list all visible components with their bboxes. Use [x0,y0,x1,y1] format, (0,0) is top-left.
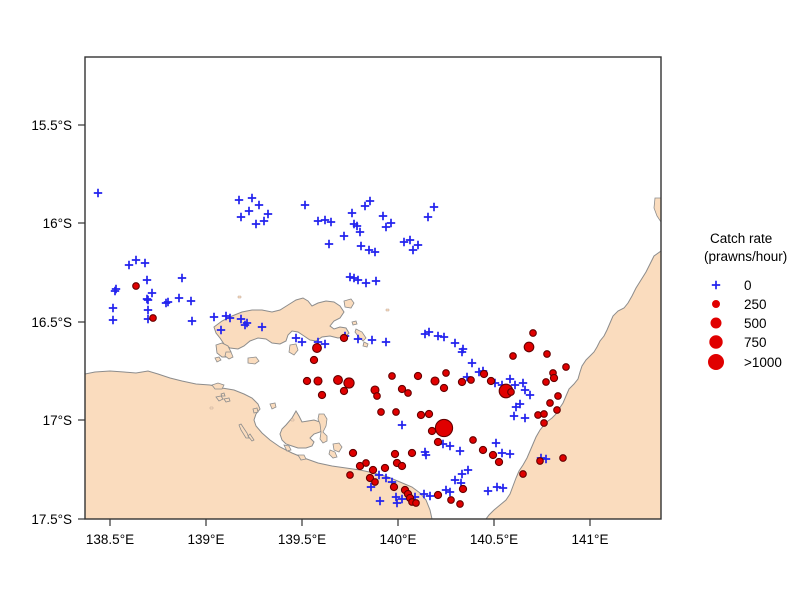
catch-rate-marker [480,370,487,377]
catch-rate-marker [413,500,420,507]
legend-symbol [708,354,723,369]
speck-d [210,407,213,409]
catch-rate-marker [479,446,486,453]
catch-rate-marker [520,471,527,478]
catch-rate-marker [434,438,441,445]
catch-rate-marker [318,391,325,398]
catch-rate-marker [133,283,140,290]
legend-entry-label: 500 [744,316,767,331]
speck-b [386,309,389,311]
legend-title-line1: Catch rate [710,231,772,246]
catch-rate-marker [405,390,412,397]
legend-title-line2: (prawns/hour) [704,249,787,264]
speck-c [291,419,294,421]
islet-f [221,393,225,396]
catch-rate-marker [340,387,347,394]
catch-rate-marker [544,351,551,358]
catch-rate-marker [369,466,376,473]
catch-rate-marker [563,364,570,371]
catch-rate-marker [393,409,400,416]
x-axis-tick-label: 140°E [380,532,417,547]
catch-rate-marker [303,377,310,384]
catch-rate-marker [537,458,544,465]
catch-rate-marker [428,427,435,434]
legend-entry-label: 250 [744,297,767,312]
legend-symbol [710,336,723,349]
y-axis-tick-label: 17.5°S [31,512,72,527]
y-axis-tick-label: 16.5°S [31,315,72,330]
legend-entry-label: >1000 [744,355,782,370]
catch-rate-marker [554,407,561,414]
catch-rate-marker [374,393,381,400]
legend-symbol [711,318,721,328]
catch-rate-marker [340,334,347,341]
x-axis-tick-label: 139.5°E [278,532,326,547]
catch-rate-marker [425,410,432,417]
catch-rate-marker [431,377,439,385]
catch-rate-marker [459,485,466,492]
catch-rate-marker [313,344,322,353]
catch-rate-marker [344,378,354,388]
legend-entry-label: 0 [744,278,752,293]
legend-symbol [712,300,719,307]
catch-rate-marker [408,449,415,456]
islet-north-small [352,321,357,325]
y-axis-tick-label: 17°S [43,413,72,428]
catch-rate-marker [334,376,343,385]
speck-a [238,296,241,298]
catch-rate-marker [448,497,455,504]
catch-rate-marker [470,437,477,444]
catch-rate-marker [541,420,548,427]
catch-rate-marker [363,460,370,467]
catch-rate-marker [314,377,322,385]
x-axis-tick-label: 140.5°E [470,532,518,547]
catch-rate-marker [414,372,421,379]
catch-rate-marker [468,377,475,384]
catch-rate-marker [372,479,379,486]
catch-rate-marker [508,389,515,396]
catch-rate-marker [541,411,548,418]
catch-rate-marker [524,342,534,352]
catch-rate-marker [547,400,554,407]
catch-rate-marker [349,449,356,456]
catch-rate-marker [434,491,441,498]
catch-rate-marker [381,464,388,471]
catch-rate-marker [417,411,424,418]
catch-rate-marker [487,377,494,384]
catch-rate-marker [560,455,567,462]
catch-rate-marker [390,483,397,490]
catch-rate-marker [378,409,385,416]
catch-rate-marker [347,472,354,479]
catch-rate-marker [457,501,464,508]
catch-rate-marker [443,370,450,377]
catch-rate-marker [530,330,537,337]
catch-rate-marker [550,374,557,381]
catch-rate-marker [510,353,517,360]
catch-rate-marker [489,451,496,458]
catch-rate-marker [440,384,447,391]
x-axis-tick-label: 139°E [188,532,225,547]
catch-rate-map-figure: 138.5°E139°E139.5°E140°E140.5°E141°E 15.… [0,0,800,600]
catch-rate-marker [389,373,396,380]
catch-rate-marker [398,462,405,469]
catch-rate-marker [435,419,452,436]
catch-rate-marker [458,378,465,385]
catch-rate-marker [391,450,398,457]
islet-bentinck-nw [253,408,258,413]
x-axis-tick-label: 141°E [572,532,609,547]
catch-rate-marker [310,356,317,363]
legend-entry-label: 750 [744,335,767,350]
catch-rate-marker [543,379,550,386]
catch-rate-marker [150,315,157,322]
catch-rate-marker [495,458,502,465]
y-axis-tick-label: 15.5°S [31,118,72,133]
y-axis-tick-label: 16°S [43,216,72,231]
x-axis-tick-label: 138.5°E [86,532,134,547]
catch-rate-marker [555,393,562,400]
